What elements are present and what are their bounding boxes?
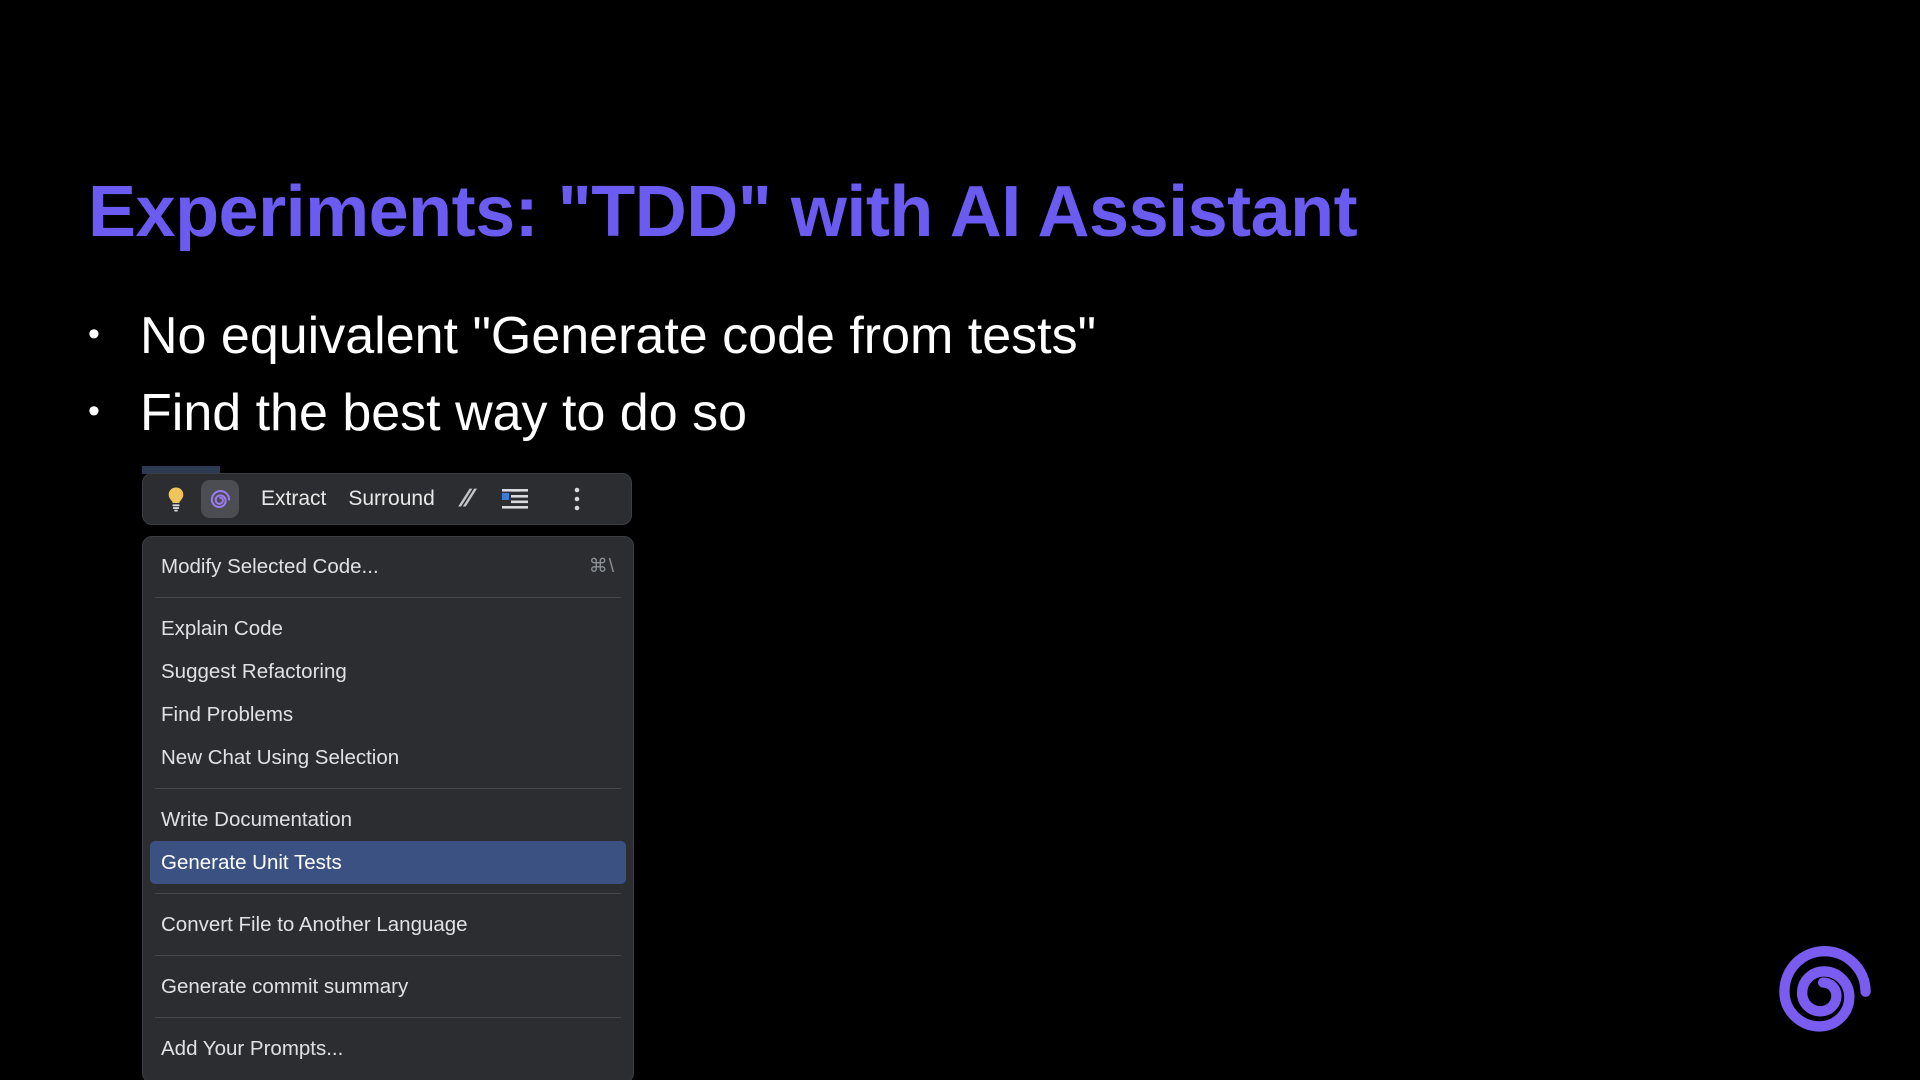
menu-group: Modify Selected Code... ⌘\ [143,543,633,590]
menu-item-label: Generate commit summary [161,975,408,999]
bullet-marker-icon: • [88,394,140,428]
reformat-icon[interactable] [496,480,534,518]
extract-button[interactable]: Extract [239,487,326,511]
menu-item-label: New Chat Using Selection [161,746,399,770]
menu-group: Generate commit summary [143,963,633,1010]
menu-item-label: Suggest Refactoring [161,660,347,684]
menu-item-generate-unit-tests[interactable]: Generate Unit Tests [150,841,626,884]
menu-item-explain-code[interactable]: Explain Code [143,607,633,650]
bullet-marker-icon: • [88,317,140,351]
slide-canvas: Experiments: "TDD" with AI Assistant • N… [0,0,1920,1080]
menu-separator [155,597,621,598]
menu-group: Add Your Prompts... [143,1025,633,1072]
menu-separator [155,955,621,956]
lightbulb-icon[interactable] [157,480,195,518]
menu-separator [155,1017,621,1018]
menu-group: Explain Code Suggest Refactoring Find Pr… [143,605,633,781]
menu-item-label: Write Documentation [161,808,352,832]
menu-item-convert-file-to-another-language[interactable]: Convert File to Another Language [143,903,633,946]
ai-assistant-context-menu[interactable]: Modify Selected Code... ⌘\ Explain Code … [142,536,634,1080]
menu-item-shortcut: ⌘\ [589,555,615,578]
ai-assistant-logo [1766,932,1884,1050]
menu-item-label: Generate Unit Tests [161,851,342,875]
bullet-list: • No equivalent "Generate code from test… [88,298,1788,452]
list-item-label: Find the best way to do so [140,375,747,452]
list-item-label: No equivalent "Generate code from tests" [140,298,1096,375]
menu-item-label: Find Problems [161,703,293,727]
menu-item-label: Add Your Prompts... [161,1037,343,1061]
menu-item-label: Modify Selected Code... [161,555,379,579]
menu-group: Convert File to Another Language [143,901,633,948]
menu-item-label: Explain Code [161,617,283,641]
menu-item-find-problems[interactable]: Find Problems [143,693,633,736]
menu-item-new-chat-using-selection[interactable]: New Chat Using Selection [143,736,633,779]
menu-group: Write Documentation Generate Unit Tests [143,796,633,886]
page-title: Experiments: "TDD" with AI Assistant [88,176,1357,248]
menu-item-write-documentation[interactable]: Write Documentation [143,798,633,841]
menu-item-add-your-prompts[interactable]: Add Your Prompts... [143,1027,633,1070]
list-item: • No equivalent "Generate code from test… [88,298,1788,375]
list-item: • Find the best way to do so [88,375,1788,452]
kebab-menu-icon[interactable] [558,480,596,518]
surround-button[interactable]: Surround [326,487,434,511]
menu-separator [155,893,621,894]
comment-slashes-icon[interactable]: // [431,485,473,513]
menu-item-suggest-refactoring[interactable]: Suggest Refactoring [143,650,633,693]
menu-item-generate-commit-summary[interactable]: Generate commit summary [143,965,633,1008]
menu-item-label: Convert File to Another Language [161,913,468,937]
ai-action-toolbar[interactable]: Extract Surround // [142,473,632,525]
menu-separator [155,788,621,789]
ai-assistant-icon[interactable] [201,480,239,518]
menu-item-modify-selected-code[interactable]: Modify Selected Code... ⌘\ [143,545,633,588]
